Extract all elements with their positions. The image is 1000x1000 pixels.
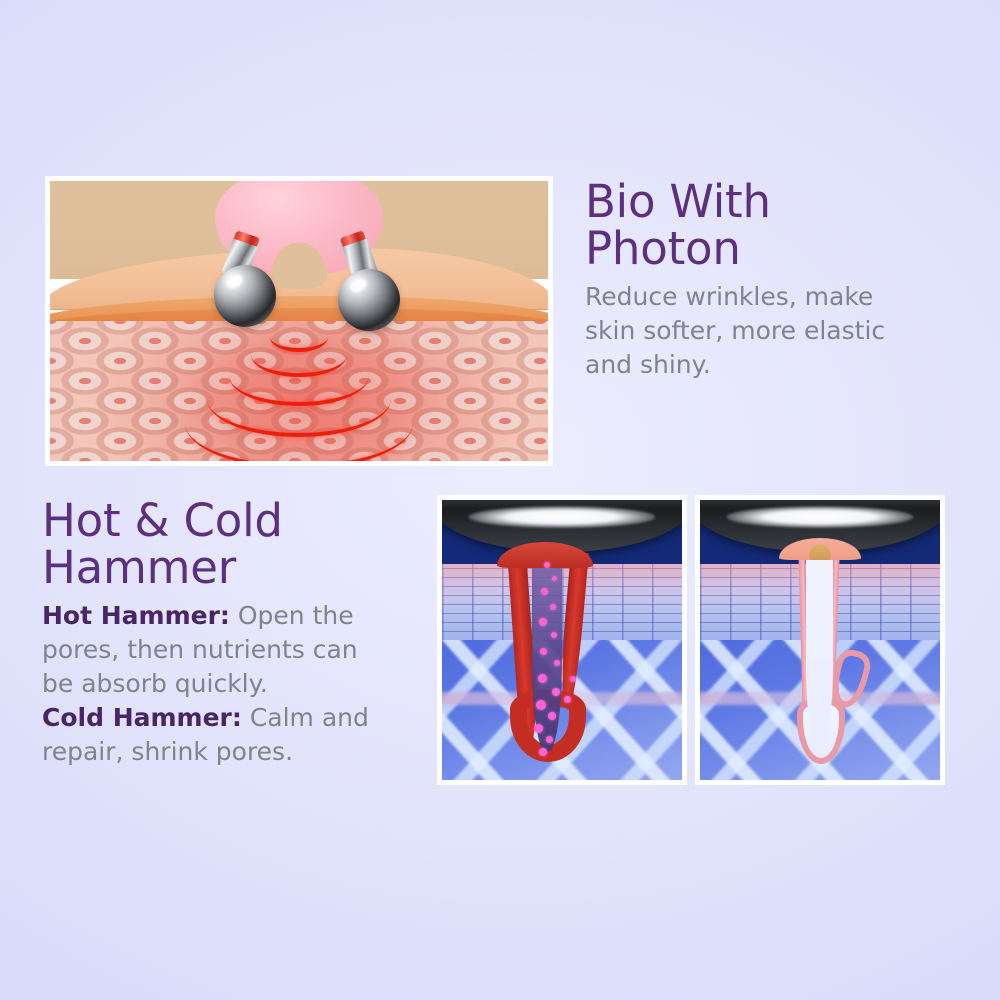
headline-bio-with-photon: Bio With Photon	[585, 178, 955, 272]
sebum-particle	[538, 674, 547, 683]
text-block-bio-with-photon: Bio With Photon Reduce wrinkles, make sk…	[585, 178, 955, 382]
description-hot-hammer: Hot Hammer: Open the pores, then nutrien…	[42, 599, 418, 701]
sebum-particle	[534, 724, 543, 733]
sebum-particle	[552, 576, 557, 581]
hot-epidermis-strata	[442, 564, 682, 648]
hot-hammer-pore-illustration	[442, 500, 682, 780]
sebum-particle	[539, 618, 547, 626]
figure-bio-with-photon	[45, 176, 553, 466]
sebum-particle	[551, 632, 557, 638]
figure-cold-hammer	[695, 495, 945, 785]
description-cold-hammer: Cold Hammer: Calm and repair, shrink por…	[42, 701, 418, 769]
infographic-stage: Bio With Photon Reduce wrinkles, make sk…	[0, 0, 1000, 1000]
sebum-particle	[536, 700, 546, 710]
text-block-hot-and-cold-hammer: Hot & Cold Hammer Hot Hammer: Open the p…	[42, 497, 418, 769]
sebum-particle	[550, 604, 556, 610]
cold-hammer-pore-illustration	[700, 500, 940, 780]
sebum-particle	[554, 660, 560, 666]
hot-hammer-plate-highlight	[468, 506, 655, 528]
ball-highlight-left	[224, 273, 244, 291]
sebum-particle	[552, 688, 560, 696]
photon-electrode-ball-left	[214, 265, 276, 327]
cold-hammer-plate-highlight	[726, 506, 913, 528]
description-bio-with-photon: Reduce wrinkles, make skin softer, more …	[585, 280, 955, 382]
sebum-particle	[546, 736, 553, 743]
ball-highlight-right	[348, 277, 368, 295]
sebum-particle	[541, 588, 548, 595]
hot-strata-tint	[442, 564, 682, 648]
hot-pore-canal	[532, 544, 562, 752]
sebum-particle	[570, 676, 576, 682]
skin-cross-section-illustration	[50, 181, 548, 461]
photon-ripple-5	[185, 377, 413, 461]
label-hot-hammer: Hot Hammer:	[42, 601, 230, 630]
sebum-particle	[540, 648, 547, 655]
figure-hot-hammer	[437, 495, 687, 785]
sebum-particle	[548, 712, 556, 720]
sebum-particle	[539, 748, 547, 756]
label-cold-hammer: Cold Hammer:	[42, 703, 242, 732]
sebum-particle	[564, 696, 571, 703]
cold-pore-canal	[806, 540, 833, 754]
photon-electrode-ball-right	[338, 269, 400, 331]
headline-hot-and-cold-hammer: Hot & Cold Hammer	[42, 497, 418, 591]
sebum-particle	[544, 562, 550, 568]
